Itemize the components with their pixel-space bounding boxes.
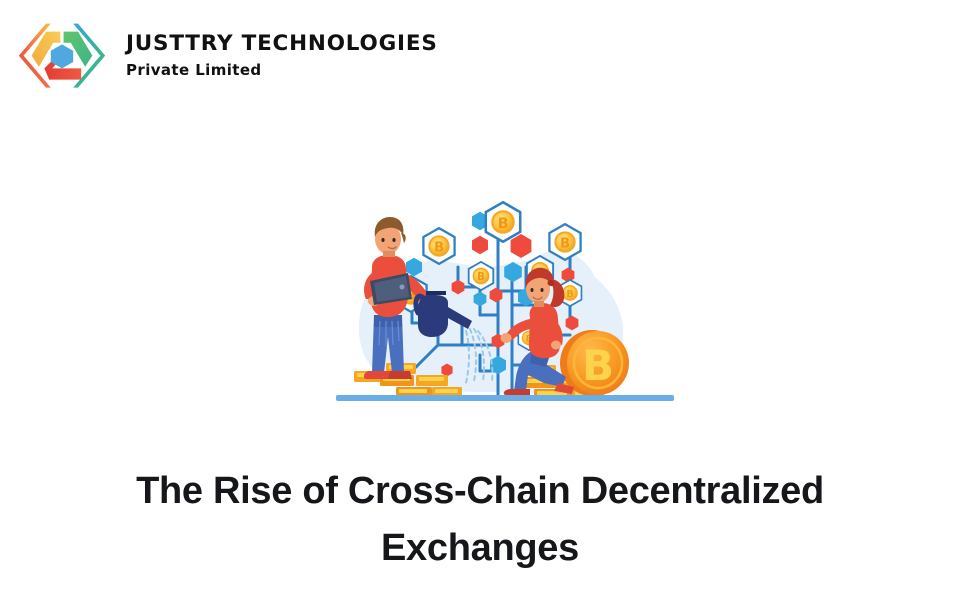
page-title: The Rise of Cross-Chain Decentralized Ex… [80, 463, 880, 575]
brand-text-block: JUSTTRY TECHNOLOGIES Private Limited [126, 29, 438, 80]
company-suffix: Private Limited [126, 60, 438, 80]
justtry-technologies-logo-icon [14, 22, 110, 88]
company-name: JUSTTRY TECHNOLOGIES [126, 31, 438, 58]
svg-text:B: B [582, 341, 614, 390]
brand-header[interactable]: JUSTTRY TECHNOLOGIES Private Limited [14, 22, 438, 88]
crypto-blockchain-tree-illustration: B [330, 195, 680, 415]
